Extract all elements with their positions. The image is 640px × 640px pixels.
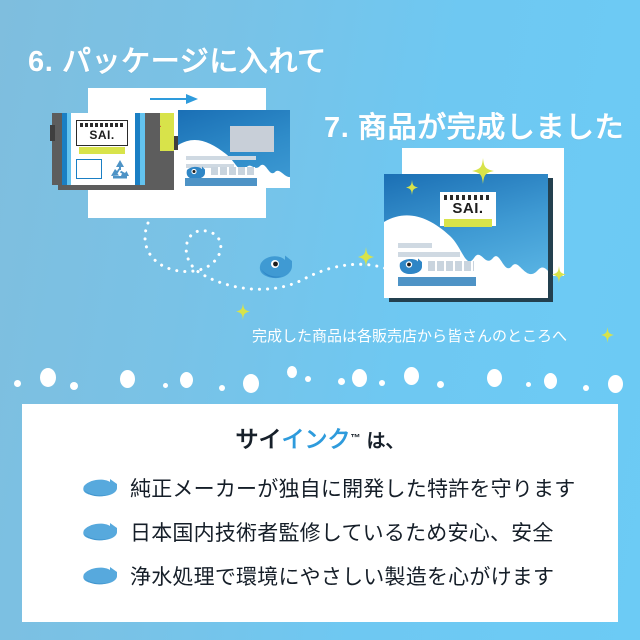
cartridge-accent-bar — [79, 147, 125, 154]
cartridge-stripe-light-2 — [140, 113, 145, 185]
list-item-label: 純正メーカーが独自に開発した特許を守ります — [130, 473, 575, 503]
preview-footer-bar — [185, 178, 257, 186]
sparkle-icon — [406, 180, 418, 195]
bubble — [305, 376, 311, 382]
package-line — [398, 243, 432, 248]
package-footer-bar — [398, 277, 476, 286]
preview-color-swatches — [211, 167, 255, 175]
bubble — [583, 385, 589, 391]
trademark-symbol: ™ — [350, 433, 360, 444]
flying-whale-mascot — [258, 255, 294, 279]
package-line — [398, 252, 460, 257]
bubble — [404, 367, 419, 385]
bubble — [14, 380, 21, 387]
bubble — [487, 369, 502, 387]
cartridge-brand-text: SAI. — [78, 127, 126, 143]
whale-bullet-icon — [82, 479, 118, 497]
package-color-swatches — [428, 261, 474, 271]
bubble — [120, 370, 135, 388]
list-item: 日本国内技術者監修しているため安心、安全 — [82, 510, 602, 554]
bubble — [608, 375, 623, 393]
bubble — [163, 383, 168, 388]
list-item: 純正メーカーが独自に開発した特許を守ります — [82, 466, 602, 510]
list-item-label: 浄水処理で環境にやさしい製造を心がけます — [130, 561, 554, 591]
bubble — [379, 380, 385, 386]
bubble — [526, 382, 531, 387]
info-card: サイインク™は、 純正メーカーが独自に開発した特許を守ります 日本国内技術者監修… — [22, 404, 618, 622]
ink-cartridge: SAI. — [50, 113, 162, 191]
bubble-divider — [0, 362, 640, 400]
preview-line — [186, 156, 256, 160]
cartridge-nub — [50, 125, 55, 141]
list-item: 浄水処理で環境にやさしい製造を心がけます — [82, 554, 602, 598]
bubble — [219, 385, 225, 391]
package-brand-text: SAI. — [440, 200, 496, 218]
sparkle-icon — [472, 158, 494, 184]
package-accent-bar — [444, 219, 492, 227]
bubble — [40, 368, 56, 387]
delivery-caption: 完成した商品は各販売店から皆さんのところへ — [252, 325, 567, 346]
bubble — [352, 369, 367, 387]
bubble — [287, 366, 297, 378]
bubble — [437, 381, 444, 388]
list-item-label: 日本国内技術者監修しているため安心、安全 — [130, 517, 554, 547]
card-title: サイインク™は、 — [22, 420, 618, 454]
bubble — [243, 374, 259, 393]
cartridge-small-box — [76, 159, 102, 179]
step-6-product-preview — [178, 110, 290, 188]
whale-logo-icon — [398, 258, 424, 274]
brand-name-dark: サイ — [235, 426, 281, 452]
step-6-heading: 6. パッケージに入れて — [28, 38, 327, 80]
bubble — [544, 373, 557, 389]
brand-name-blue: インク — [281, 426, 350, 452]
sparkle-icon — [601, 327, 614, 343]
whale-bullet-icon — [82, 523, 118, 541]
bubble — [70, 382, 78, 390]
infographic-canvas: 6. パッケージに入れて SAI. — [0, 0, 640, 640]
sparkle-icon — [552, 266, 566, 283]
recycle-icon — [108, 158, 132, 180]
feature-list: 純正メーカーが独自に開発した特許を守ります 日本国内技術者監修しているため安心、… — [82, 466, 602, 598]
title-suffix: は、 — [366, 431, 404, 452]
bubble — [338, 378, 345, 385]
whale-bullet-icon — [82, 567, 118, 585]
step-6-illustration: SAI. — [50, 88, 300, 218]
step-7-heading: 7. 商品が完成しました — [324, 104, 624, 146]
preview-card-block — [230, 126, 274, 152]
bubble — [180, 372, 193, 388]
arrow-right-icon — [150, 93, 198, 105]
